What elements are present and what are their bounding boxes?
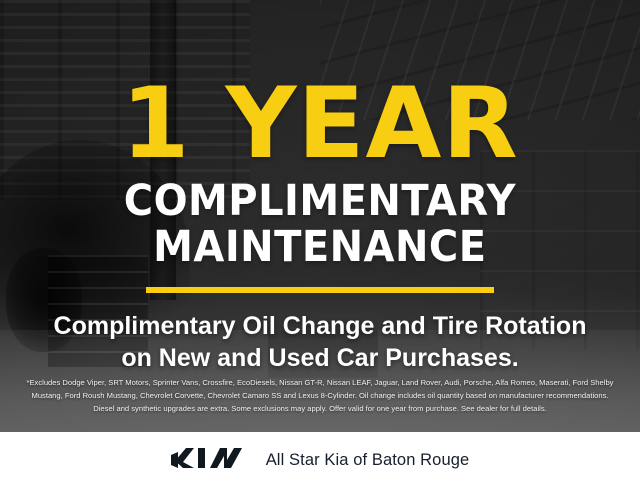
promotional-banner: 1 YEAR COMPLIMENTARY MAINTENANCE Complim… xyxy=(0,0,640,488)
disclaimer-line-1: *Excludes Dodge Viper, SRT Motors, Sprin… xyxy=(14,376,626,389)
yellow-divider-bar xyxy=(146,287,494,293)
disclaimer-line-3: Diesel and synthetic upgrades are extra.… xyxy=(14,402,626,415)
headline-complimentary-maintenance: COMPLIMENTARY MAINTENANCE xyxy=(124,178,516,271)
offer-line-1: Complimentary Oil Change and Tire Rotati… xyxy=(54,310,587,343)
kia-logo-icon xyxy=(171,447,249,474)
headline-year: 1 YEAR xyxy=(121,76,519,172)
offer-description: Complimentary Oil Change and Tire Rotati… xyxy=(54,310,587,375)
headline-line-maintenance: MAINTENANCE xyxy=(124,224,516,270)
footer-bar: All Star Kia of Baton Rouge xyxy=(0,432,640,488)
headline-line-complimentary: COMPLIMENTARY xyxy=(124,178,516,224)
offer-line-2: on New and Used Car Purchases. xyxy=(54,342,587,375)
banner-content: 1 YEAR COMPLIMENTARY MAINTENANCE Complim… xyxy=(0,0,640,488)
disclaimer-line-2: Mustang, Ford Roush Mustang, Chevrolet C… xyxy=(14,389,626,402)
dealer-name: All Star Kia of Baton Rouge xyxy=(266,451,470,470)
disclaimer-fine-print: *Excludes Dodge Viper, SRT Motors, Sprin… xyxy=(14,376,626,415)
